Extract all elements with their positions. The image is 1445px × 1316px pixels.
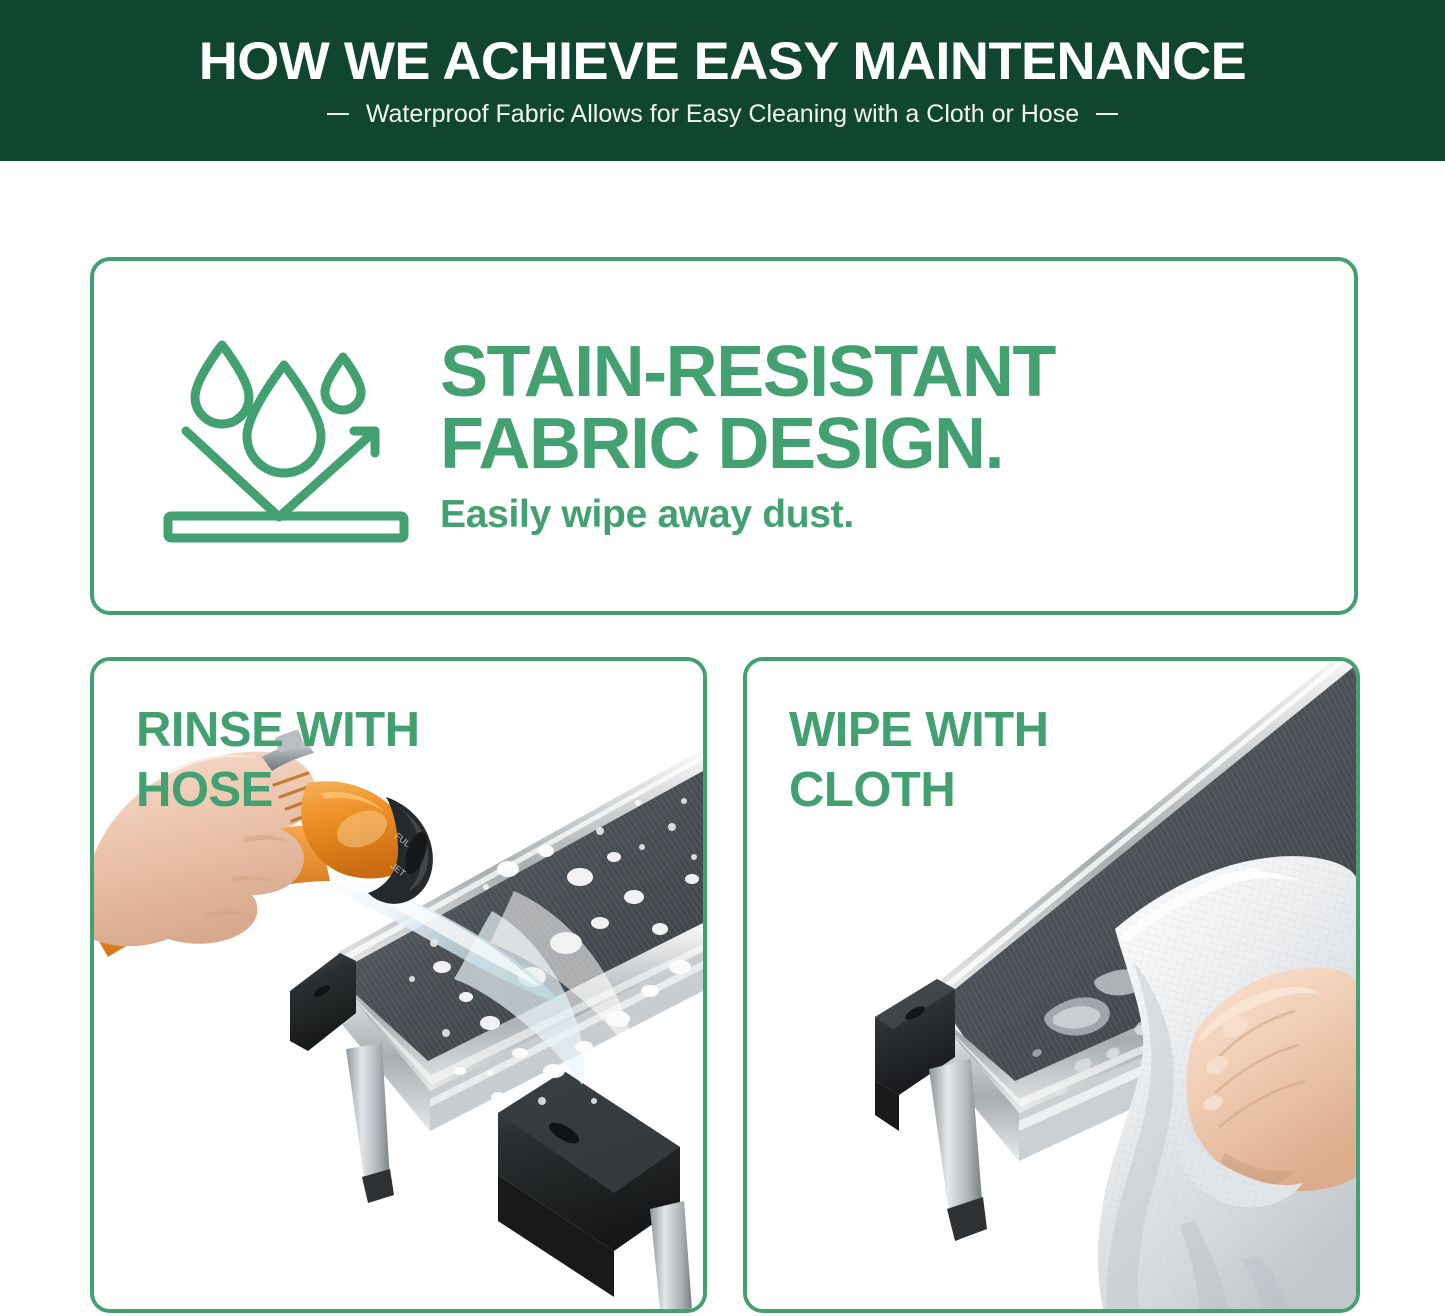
water-repellent-icon-wrap [136,327,436,545]
rinse-with-hose-card: RINSE WITH HOSE [90,657,707,1313]
cloth-wiping-cot-photo [747,661,1356,1309]
feature-subheadline: Easily wipe away dust. [440,495,1354,534]
hose-rinsing-cot-photo: FULL JET [94,661,703,1309]
header-subtitle: Waterproof Fabric Allows for Easy Cleani… [366,102,1079,127]
header-banner: HOW WE ACHIEVE EASY MAINTENANCE Waterpro… [0,0,1445,161]
page-title: HOW WE ACHIEVE EASY MAINTENANCE [199,35,1246,88]
stain-resistant-feature-card: STAIN-RESISTANT FABRIC DESIGN. Easily wi… [90,257,1358,615]
feature-headline-line2: FABRIC DESIGN. [440,410,1354,479]
header-subtitle-row: Waterproof Fabric Allows for Easy Cleani… [327,102,1118,127]
feature-headline-line1: STAIN-RESISTANT [440,338,1354,407]
dash-left-icon [327,113,349,115]
dash-right-icon [1096,113,1118,115]
water-repellent-icon [162,327,410,545]
feature-text-block: STAIN-RESISTANT FABRIC DESIGN. Easily wi… [436,338,1354,533]
wipe-with-cloth-card: WIPE WITH CLOTH [743,657,1360,1313]
